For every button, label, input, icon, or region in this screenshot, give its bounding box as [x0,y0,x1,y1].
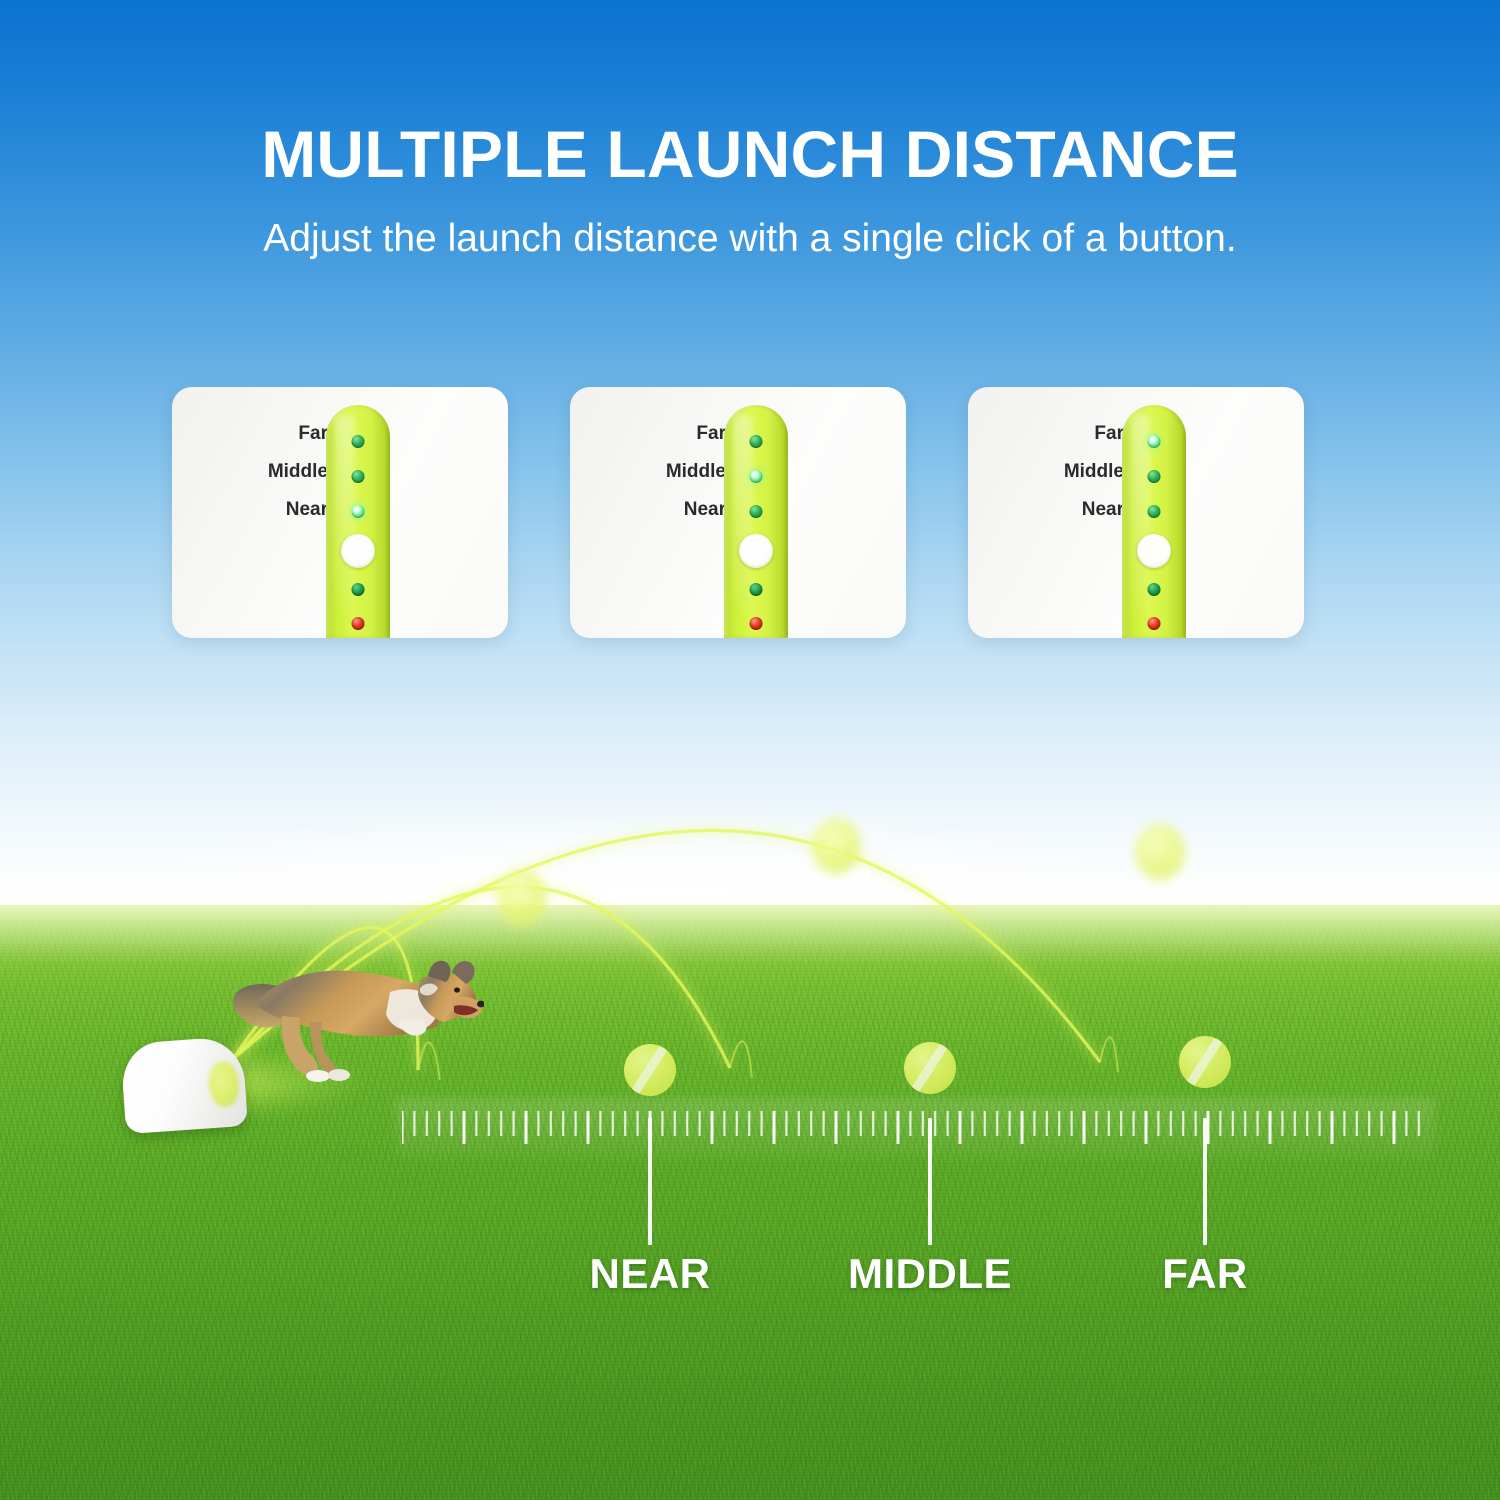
marker-line-middle [928,1118,932,1245]
card-middle-label-middle: Middle [596,461,726,483]
distance-ruler [402,1105,1424,1151]
card-middle-led-strip [724,405,788,638]
power-button[interactable] [1137,534,1171,568]
marker-line-near [648,1118,652,1245]
dog-paw-1 [306,1070,330,1082]
led-middle-icon [352,470,365,483]
jumping-dog [222,952,484,1084]
page-subtitle: Adjust the launch distance with a single… [0,216,1500,263]
product-feature-graphic: MULTIPLE LAUNCH DISTANCE Adjust the laun… [0,0,1500,1500]
card-far-led-strip [1122,405,1186,638]
led-far-icon [1148,435,1161,448]
card-far-labels: Far Middle Near [994,423,1124,537]
card-near-led-strip [326,405,390,638]
led-far-icon [750,435,763,448]
card-middle-label-near: Near [596,499,726,521]
card-far-label-near: Near [994,499,1124,521]
ball-in-flight-middle [811,818,861,874]
ball-in-flight-far [1135,824,1185,880]
card-near-label-middle: Middle [198,461,328,483]
power-button[interactable] [341,534,375,568]
led-status-icon [352,583,365,596]
led-status-icon [750,583,763,596]
page-title: MULTIPLE LAUNCH DISTANCE [0,120,1500,189]
card-far-label-far: Far [994,423,1124,445]
card-near-labels: Far Middle Near [198,423,328,537]
led-power-icon [1148,617,1161,630]
led-far-icon [352,435,365,448]
card-near-label-far: Far [198,423,328,445]
device-card-far[interactable]: Far Middle Near [968,387,1304,638]
ball-landed-far [1179,1036,1231,1088]
card-near-label-near: Near [198,499,328,521]
led-near-icon [352,505,365,518]
ball-in-flight-near [497,870,547,926]
power-button[interactable] [739,534,773,568]
far-arc-tail [1100,1037,1118,1072]
led-near-icon [1148,505,1161,518]
distance-label-far: FAR [1162,1250,1248,1298]
card-far-label-middle: Middle [994,461,1124,483]
distance-label-near: NEAR [589,1250,710,1298]
distance-label-middle: MIDDLE [848,1250,1012,1298]
led-middle-icon [1148,470,1161,483]
led-power-icon [352,617,365,630]
ball-landed-middle [904,1042,956,1094]
device-card-middle[interactable]: Far Middle Near [570,387,906,638]
led-near-icon [750,505,763,518]
led-middle-icon [750,470,763,483]
ball-seam [909,1042,952,1094]
dog-paw-2 [328,1069,350,1081]
middle-arc-tail [730,1041,752,1078]
marker-line-far [1203,1118,1207,1245]
card-middle-label-far: Far [596,423,726,445]
ball-landed-near [624,1044,676,1096]
led-power-icon [750,617,763,630]
ball-seam [1184,1036,1227,1088]
ball-seam [629,1044,672,1096]
device-card-near[interactable]: Far Middle Near [172,387,508,638]
led-status-icon [1148,583,1161,596]
dog-eye [454,987,460,992]
card-middle-labels: Far Middle Near [596,423,726,537]
